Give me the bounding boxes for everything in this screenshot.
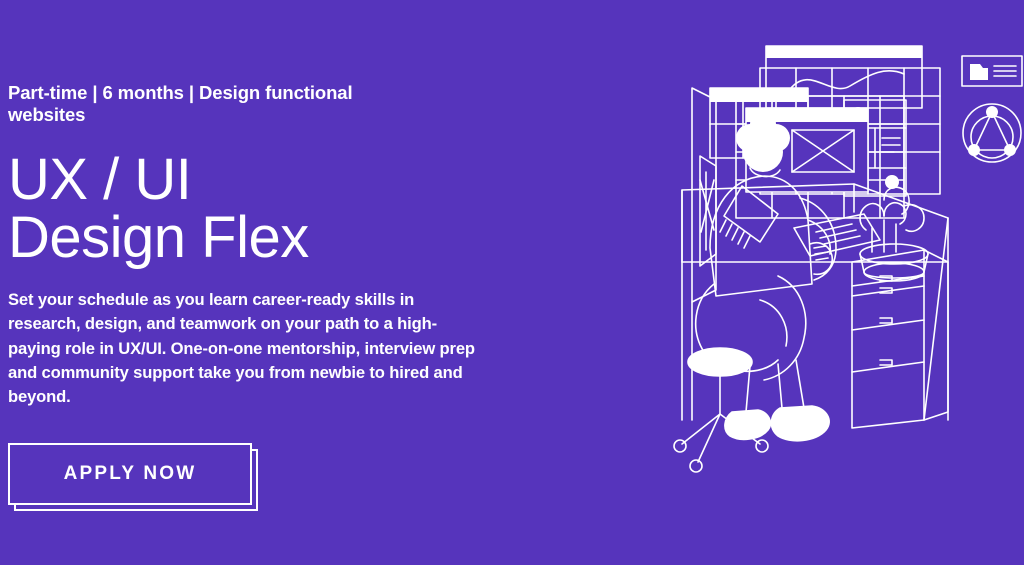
hero-section: Part-time | 6 months | Design functional… — [0, 0, 1024, 565]
floating-grid-panel — [710, 88, 808, 158]
floating-layout-card — [844, 100, 906, 196]
hero-illustration — [564, 0, 1024, 565]
folder-list-card — [962, 56, 1022, 86]
floating-swap-icon — [792, 116, 824, 160]
course-meta-eyebrow: Part-time | 6 months | Design functional… — [8, 82, 408, 125]
person-at-desk — [696, 111, 836, 441]
apply-cta-wrapper: APPLY NOW — [8, 443, 252, 505]
browser-wireframe-window — [736, 96, 904, 218]
filing-cabinet — [852, 250, 948, 428]
floating-wave-panel — [766, 46, 922, 108]
hero-description: Set your schedule as you learn career-re… — [8, 288, 482, 409]
network-triangle-diagram — [963, 104, 1021, 162]
tall-leaf-plant — [692, 88, 716, 420]
spreadsheet-panel — [760, 68, 940, 194]
keyboard — [794, 214, 880, 256]
hero-copy: Part-time | 6 months | Design functional… — [8, 82, 508, 505]
office-chair — [674, 348, 768, 472]
desk — [682, 184, 948, 420]
apply-now-button[interactable]: APPLY NOW — [8, 443, 252, 505]
page-title: UX / UI Design Flex — [8, 151, 508, 266]
cactus-in-pot — [860, 187, 928, 281]
